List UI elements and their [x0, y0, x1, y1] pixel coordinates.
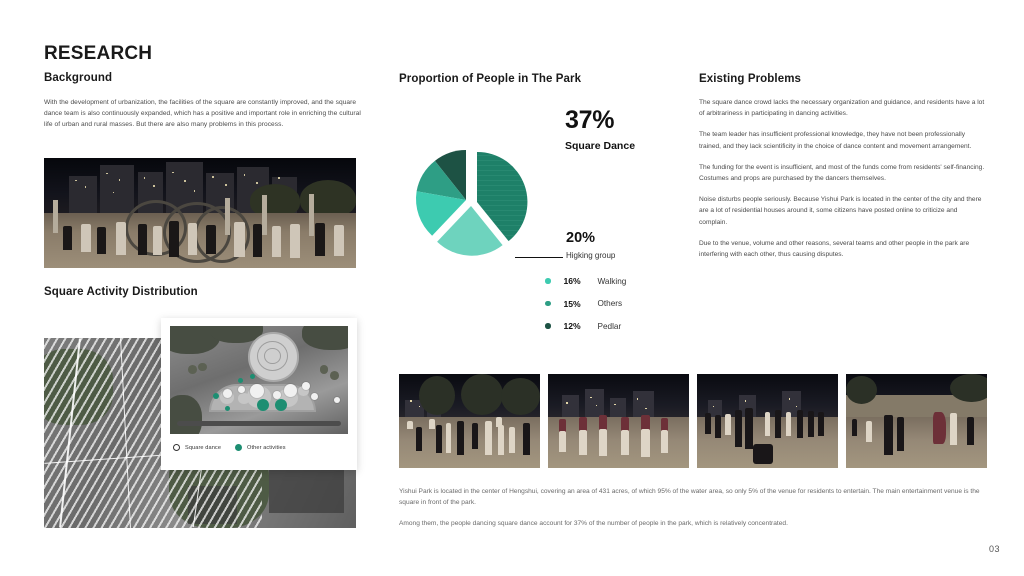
- legend-dot-icon: [545, 301, 551, 307]
- background-heading: Background: [44, 72, 112, 84]
- pie-callout-square-dance: 37% Square Dance: [565, 108, 635, 152]
- park-aerial-photo: [170, 326, 348, 434]
- map-dot-square-dance: [273, 391, 281, 399]
- existing-problems-body: The square dance crowd lacks the necessa…: [699, 97, 987, 270]
- filled-circle-icon: [235, 444, 242, 451]
- map-legend-item-other-activities: Other activities: [235, 444, 286, 451]
- problem-paragraph: The funding for the event is insufficien…: [699, 162, 987, 184]
- problem-paragraph: The team leader has insufficient profess…: [699, 129, 987, 151]
- photo-strip: [399, 374, 987, 468]
- photo-dance-team-formation: [548, 374, 689, 468]
- pie-legend-item-pedlar: 12% Pedlar: [545, 321, 626, 331]
- map-dot-square-dance: [223, 389, 232, 398]
- map-dot-other-activity: [250, 374, 255, 379]
- slide-canvas: RESEARCH Background With the development…: [0, 0, 1024, 576]
- night-plaza-photo: [44, 158, 356, 268]
- caption-paragraph: Among them, the people dancing square da…: [399, 518, 987, 529]
- photo-fan-dance-wall: [846, 374, 987, 468]
- pie-legend-percent: 16%: [564, 276, 592, 286]
- map-dot-other-activity: [238, 378, 243, 383]
- pie-callout-hiking-group: 20% Higking group: [566, 231, 615, 260]
- map-dot-other-activity: [213, 393, 219, 399]
- caption-block: Yishui Park is located in the center of …: [399, 486, 987, 540]
- pie-leader-line: [515, 257, 563, 258]
- pie-legend-item-others: 15% Others: [545, 299, 626, 309]
- pie-minor-percent: 20%: [566, 231, 615, 246]
- pie-legend-percent: 15%: [564, 299, 592, 309]
- problem-paragraph: The square dance crowd lacks the necessa…: [699, 97, 987, 119]
- map-legend: Square dance Other activities: [173, 444, 286, 451]
- pie-legend-label: Others: [598, 299, 623, 308]
- caption-paragraph: Yishui Park is located in the center of …: [399, 486, 987, 508]
- map-inset-card: Square dance Other activities: [161, 318, 357, 470]
- background-paragraph: With the development of urbanization, th…: [44, 97, 364, 131]
- map-legend-item-square-dance: Square dance: [173, 444, 221, 451]
- pie-chart: [398, 96, 588, 281]
- map-dot-square-dance: [311, 393, 318, 400]
- pie-major-label: Square Dance: [565, 140, 635, 152]
- problem-paragraph: Noise disturbs people seriously. Because…: [699, 194, 987, 228]
- map-legend-label: Square dance: [185, 445, 221, 451]
- pie-minor-label: Higking group: [566, 251, 615, 260]
- photo-plaza-trees-crowd: [399, 374, 540, 468]
- pie-legend-item-walking: 16% Walking: [545, 276, 626, 286]
- existing-problems-heading: Existing Problems: [699, 73, 801, 85]
- pie-legend: 16% Walking 15% Others 12% Pedlar: [545, 276, 626, 331]
- page-title: RESEARCH: [44, 43, 152, 65]
- pie-legend-label: Walking: [598, 277, 627, 286]
- square-activity-heading: Square Activity Distribution: [44, 286, 198, 298]
- map-dot-square-dance: [302, 382, 310, 390]
- map-legend-label: Other activities: [247, 445, 286, 451]
- page-number: 03: [989, 544, 1000, 554]
- legend-dot-icon: [545, 323, 551, 329]
- pie-legend-percent: 12%: [564, 321, 592, 331]
- pie-chart-heading: Proportion of People in The Park: [399, 73, 581, 85]
- pie-chart-svg: [398, 96, 588, 281]
- pie-major-percent: 37%: [565, 108, 635, 133]
- open-circle-icon: [173, 444, 180, 451]
- photo-couples-dancing: [697, 374, 838, 468]
- pie-legend-label: Pedlar: [598, 322, 622, 331]
- legend-dot-icon: [545, 278, 551, 284]
- map-dot-square-dance: [334, 397, 340, 403]
- problem-paragraph: Due to the venue, volume and other reaso…: [699, 238, 987, 260]
